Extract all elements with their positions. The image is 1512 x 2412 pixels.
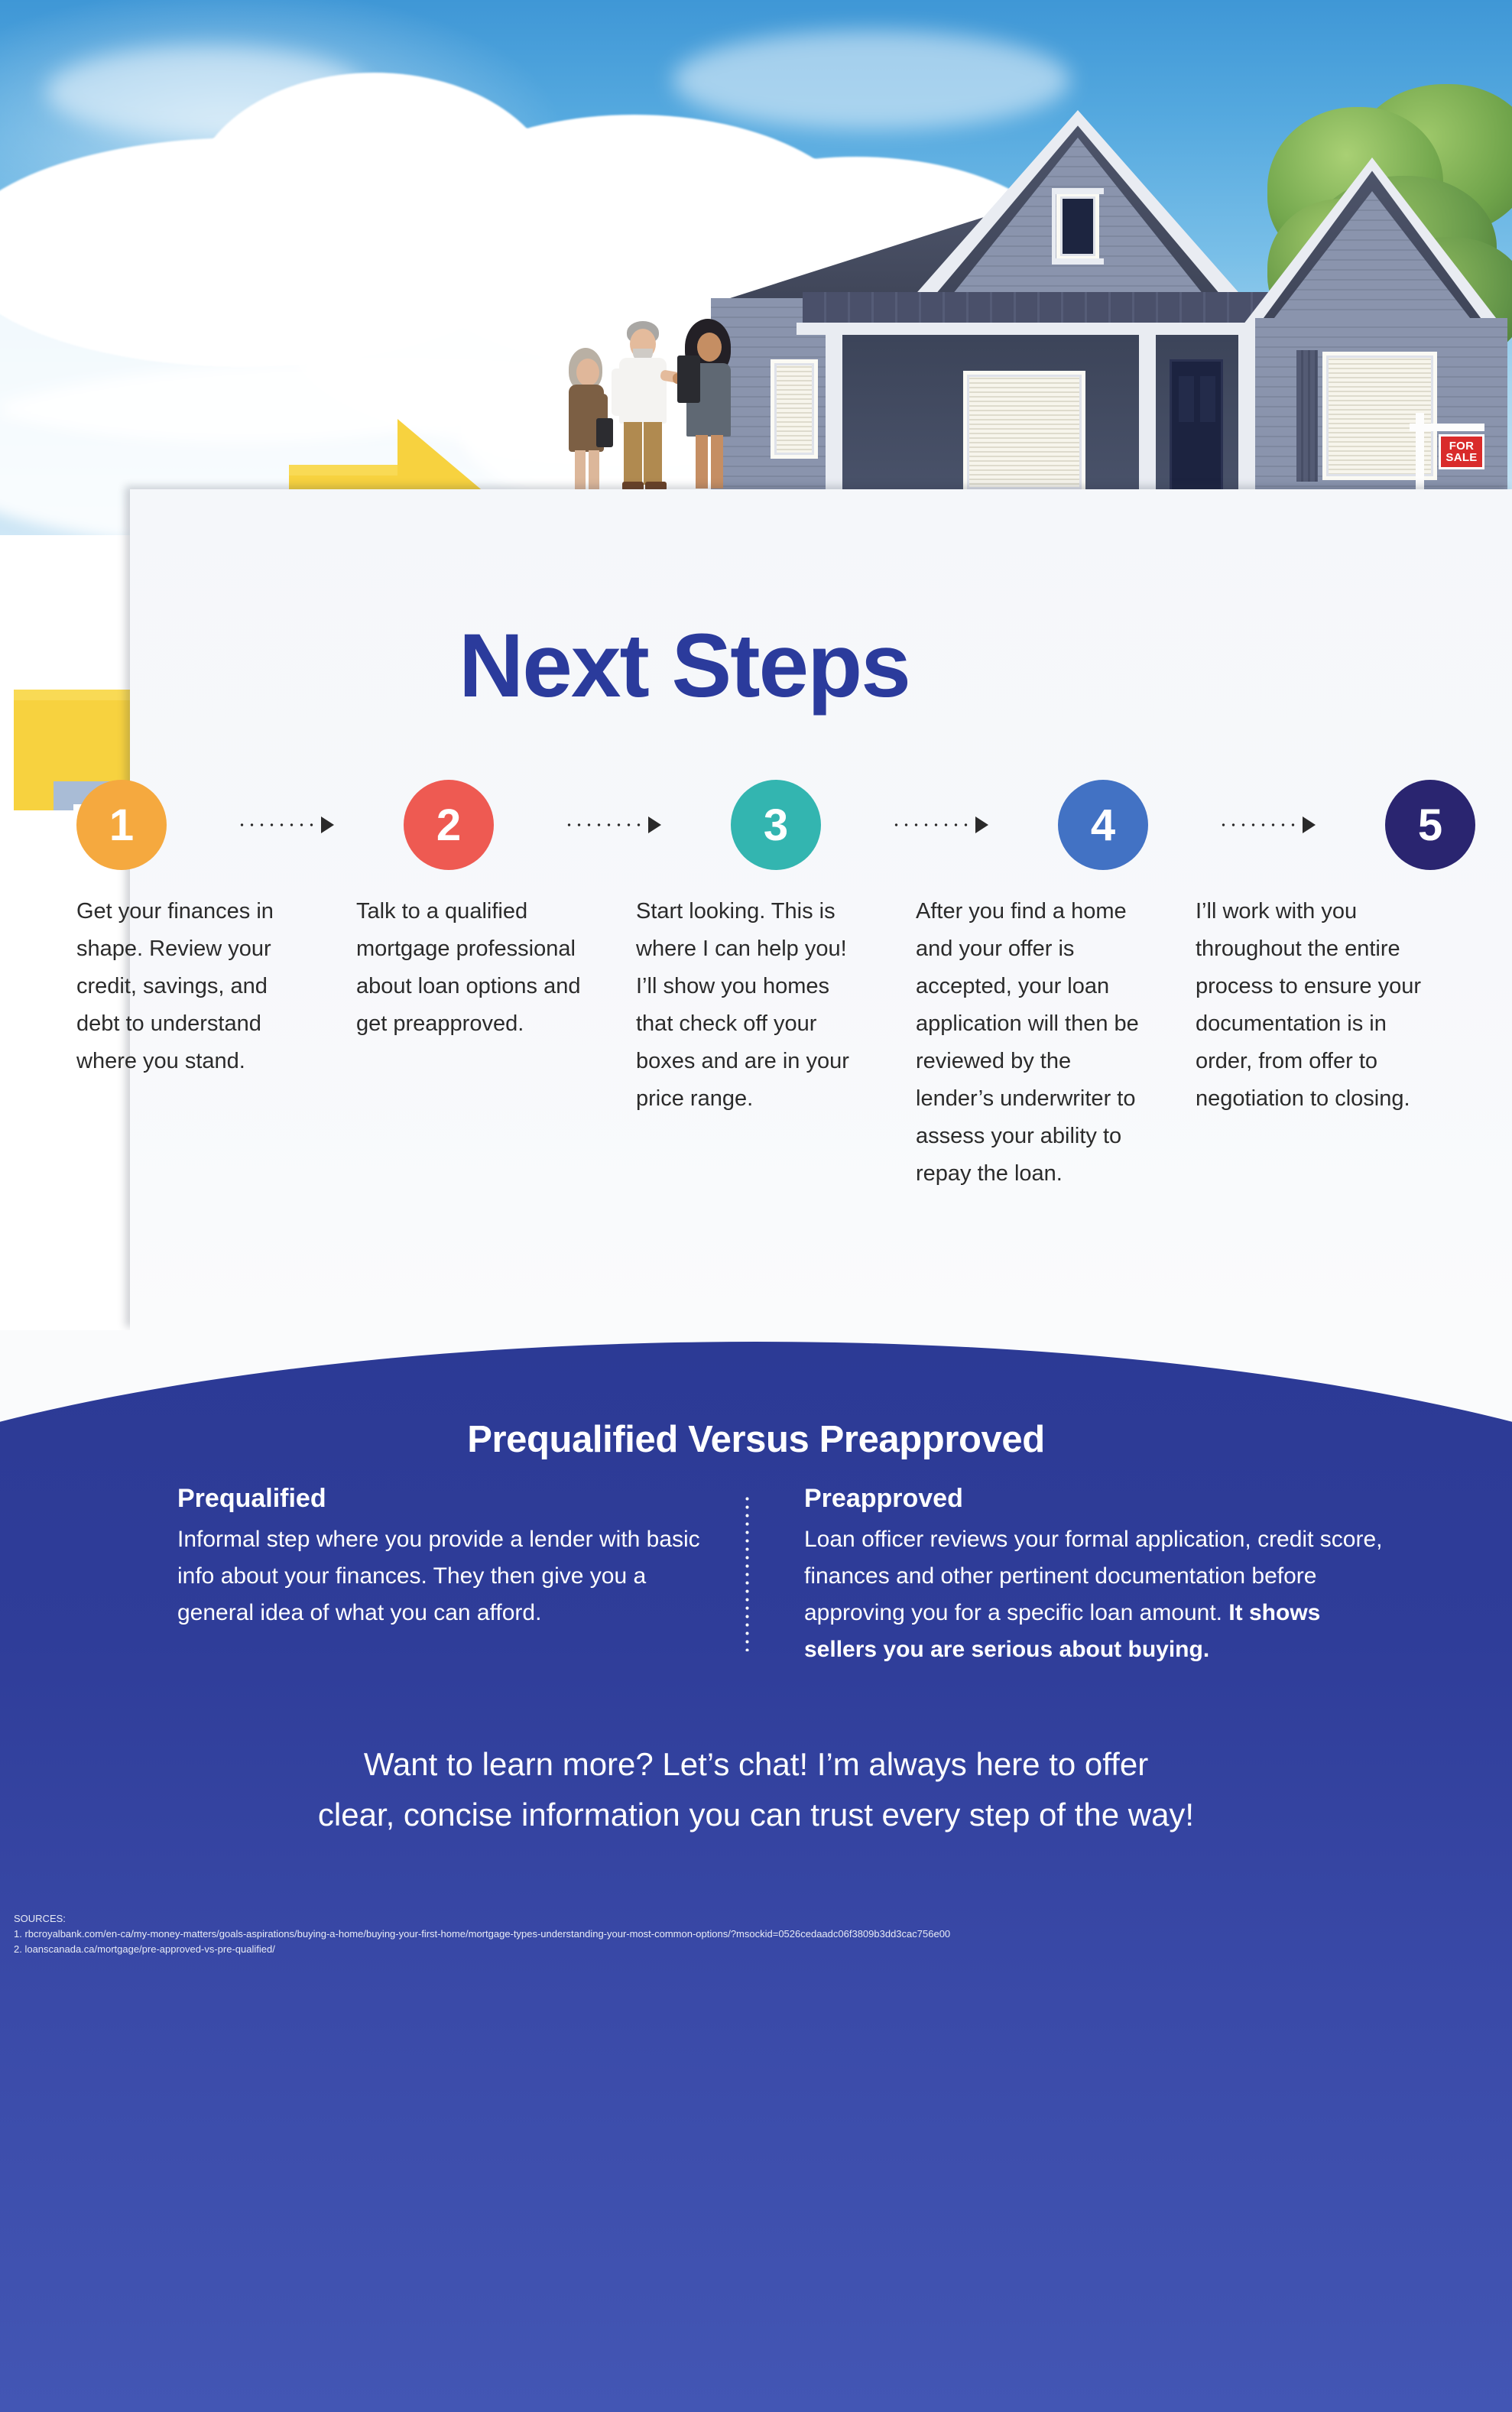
step-connector-1-2 <box>167 816 404 833</box>
comparison-content: Prequalified Versus Preapproved Prequali… <box>0 1342 1512 1957</box>
step-circle-3[interactable]: 3 <box>731 780 821 870</box>
step-circles-row: 1 2 3 4 5 <box>76 780 1475 870</box>
step-number-5: 5 <box>1418 800 1442 851</box>
prequalified-heading: Prequalified <box>177 1484 712 1514</box>
step-text-3: Start looking. This is where I can help … <box>636 893 862 1118</box>
page-title: Next Steps <box>459 621 910 711</box>
comparison-section: Prequalified Versus Preapproved Prequali… <box>0 1342 1512 1957</box>
column-divider <box>745 1495 749 1651</box>
step-number-1: 1 <box>109 800 134 851</box>
step-number-2: 2 <box>436 800 461 851</box>
sources-label: SOURCES: <box>14 1911 950 1927</box>
step-circle-2[interactable]: 2 <box>404 780 494 870</box>
prequalified-body: Informal step where you provide a lender… <box>177 1521 712 1631</box>
dotted-line <box>1218 823 1301 827</box>
step-cell-5: I’ll work with you throughout the entire… <box>1196 893 1475 1193</box>
for-sale-placard: FOR SALE <box>1439 434 1484 469</box>
arrow-head-icon <box>321 816 334 833</box>
step-number-4: 4 <box>1091 800 1115 851</box>
arrow-head-icon <box>648 816 661 833</box>
comparison-columns: Prequalified Informal step where you pro… <box>0 1484 1512 1668</box>
three-people-handshake <box>558 317 757 493</box>
dotted-line <box>891 823 974 827</box>
preapproved-column: Preapproved Loan officer reviews your fo… <box>804 1484 1385 1668</box>
sign-arm <box>1410 424 1484 431</box>
person-realtor <box>674 319 738 493</box>
step-circle-4[interactable]: 4 <box>1058 780 1148 870</box>
step-cell-2: Talk to a qualified mortgage professiona… <box>356 893 636 1193</box>
arrow-head-icon <box>975 816 988 833</box>
step-cell-4: After you find a home and your offer is … <box>916 893 1196 1193</box>
sources-block: SOURCES: 1. rbcroyalbank.com/en-ca/my-mo… <box>14 1911 950 1957</box>
step-cell-3: Start looking. This is where I can help … <box>636 893 916 1193</box>
comparison-heading: Prequalified Versus Preapproved <box>0 1418 1512 1461</box>
step-text-2: Talk to a qualified mortgage professiona… <box>356 893 582 1043</box>
for-sale-line2: SALE <box>1445 452 1477 463</box>
step-connector-2-3 <box>494 816 731 833</box>
cta-text: Want to learn more? Let’s chat! I’m alwa… <box>0 1739 1512 1840</box>
source-item-1: 1. rbcroyalbank.com/en-ca/my-money-matte… <box>14 1927 950 1942</box>
person-buyer-woman <box>558 348 612 493</box>
arrow-head-icon <box>1303 816 1316 833</box>
cta-line-1: Want to learn more? Let’s chat! I’m alwa… <box>0 1739 1512 1790</box>
preapproved-body: Loan officer reviews your formal applica… <box>804 1521 1385 1668</box>
step-circle-5[interactable]: 5 <box>1385 780 1475 870</box>
source-item-2: 2. loanscanada.ca/mortgage/pre-approved-… <box>14 1942 950 1957</box>
preapproved-heading: Preapproved <box>804 1484 1385 1514</box>
for-sale-line1: FOR <box>1449 440 1475 452</box>
person-buyer-man <box>607 321 676 493</box>
step-connector-4-5 <box>1148 816 1385 833</box>
step-connector-3-4 <box>821 816 1058 833</box>
dotted-line <box>564 823 647 827</box>
suburban-house <box>711 107 1512 512</box>
step-text-1: Get your finances in shape. Review your … <box>76 893 303 1080</box>
dotted-line <box>237 823 320 827</box>
steps-section: 1 2 3 4 5 Get your finances in shape. Re… <box>76 780 1475 1193</box>
cta-line-2: clear, concise information you can trust… <box>0 1790 1512 1840</box>
step-text-row: Get your finances in shape. Review your … <box>76 893 1475 1193</box>
prequalified-column: Prequalified Informal step where you pro… <box>177 1484 712 1668</box>
step-text-5: I’ll work with you throughout the entire… <box>1196 893 1422 1118</box>
step-number-3: 3 <box>764 800 788 851</box>
step-cell-1: Get your finances in shape. Review your … <box>76 893 356 1193</box>
step-text-4: After you find a home and your offer is … <box>916 893 1142 1193</box>
step-circle-1[interactable]: 1 <box>76 780 167 870</box>
